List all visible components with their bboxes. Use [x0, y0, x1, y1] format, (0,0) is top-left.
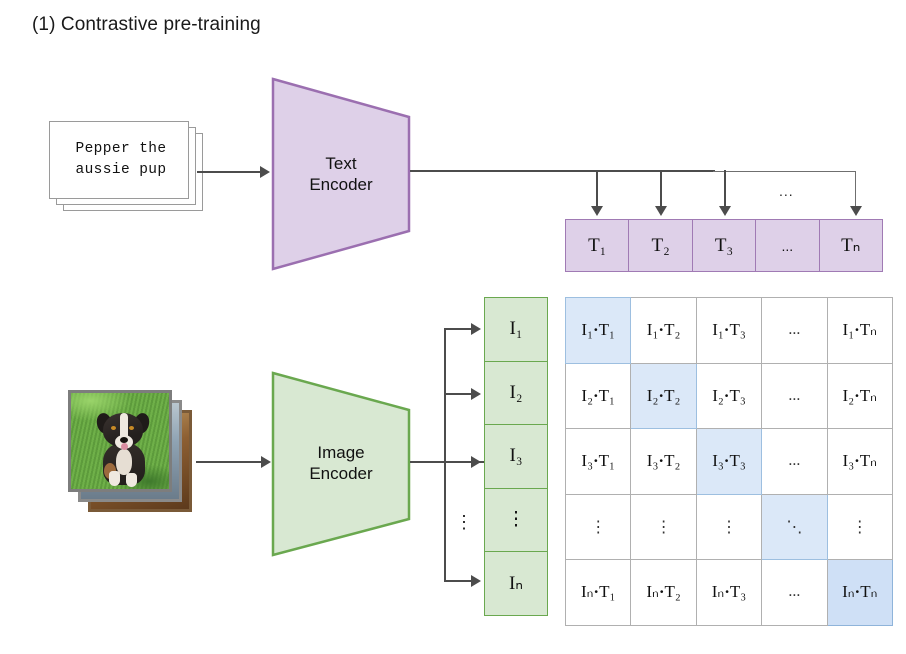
matrix-cell-r2-c2[interactable]: I₂·T₂: [631, 363, 696, 429]
text-embedding-row: T₁ T₂ T₃ ... Tₙ: [565, 219, 883, 272]
text-bus-line-main: [410, 170, 715, 172]
image-embedding-label-n: Iₙ: [509, 572, 523, 595]
text-bus-line-tail: [713, 171, 856, 172]
matrix-cell-r5-c4: ...: [762, 560, 827, 626]
text-embedding-label-1: T₁: [588, 235, 606, 257]
text-embedding-cell-1[interactable]: T₁: [565, 219, 629, 272]
text-branch-3-arrowhead: [719, 206, 731, 216]
image-bus-line-vertical: [444, 329, 446, 581]
image-embedding-cell-3[interactable]: I₃: [484, 424, 548, 489]
matrix-cell-r1-c4: ...: [762, 298, 827, 364]
matrix-cell-r4-c4: ⋱: [762, 494, 827, 560]
image-embedding-label-2: I₂: [510, 382, 523, 404]
caption-card-text: Pepper the aussie pup: [57, 139, 185, 181]
dog-paw-right: [126, 473, 137, 487]
matrix-cell-r1-c1[interactable]: I₁·T₁: [566, 298, 631, 364]
matrix-cell-r3-c4: ...: [762, 429, 827, 495]
page-title: (1) Contrastive pre-training: [32, 14, 261, 36]
image-encoder-block[interactable]: Image Encoder: [270, 370, 412, 558]
matrix-cell-r3-c1[interactable]: I₃·T₁: [566, 429, 631, 495]
matrix-cell-r4-c2: ⋮: [631, 494, 696, 560]
text-embedding-cell-n[interactable]: Tₙ: [819, 219, 883, 272]
image-embedding-column: I₁ I₂ I₃ ⋮ Iₙ: [484, 297, 548, 616]
matrix-row: I₁·T₁I₁·T₂I₁·T₃...I₁·Tₙ: [566, 298, 893, 364]
image-embedding-label-3: I₃: [510, 445, 523, 467]
dog-eye-right: [129, 426, 134, 430]
image-embedding-cell-1[interactable]: I₁: [484, 297, 548, 362]
text-encoder-label-line1: Text: [270, 153, 412, 174]
dog-eye-left: [111, 426, 116, 430]
matrix-cell-r2-c3[interactable]: I₂·T₃: [696, 363, 761, 429]
image-embedding-cell-n[interactable]: Iₙ: [484, 551, 548, 616]
image-encoder-label-line2: Encoder: [270, 463, 412, 484]
text-branch-2-arrowhead: [655, 206, 667, 216]
matrix-cell-r5-c3[interactable]: Iₙ·T₃: [696, 560, 761, 626]
image-embedding-cell-ellipsis: ⋮: [484, 488, 548, 553]
caption-to-text-encoder-arrowhead: [260, 166, 270, 178]
text-encoder-block[interactable]: Text Encoder: [270, 76, 412, 272]
matrix-cell-r4-c3: ⋮: [696, 494, 761, 560]
matrix-cell-r3-c5[interactable]: I₃·Tₙ: [827, 429, 892, 495]
text-branch-n-arrowhead: [850, 206, 862, 216]
matrix-cell-r3-c3[interactable]: I₃·T₃: [696, 429, 761, 495]
matrix-row: I₃·T₁I₃·T₂I₃·T₃...I₃·Tₙ: [566, 429, 893, 495]
matrix-row: ⋮⋮⋮⋱⋮: [566, 494, 893, 560]
image-branch-1-arrowhead: [471, 323, 481, 335]
text-branch-3-line: [724, 170, 726, 208]
matrix-cell-r5-c5[interactable]: Iₙ·Tₙ: [827, 560, 892, 626]
text-branch-1-line: [596, 170, 598, 208]
matrix-cell-r1-c2[interactable]: I₁·T₂: [631, 298, 696, 364]
text-embedding-label-ellipsis: ...: [782, 238, 794, 254]
matrix-cell-r1-c5[interactable]: I₁·Tₙ: [827, 298, 892, 364]
image-embedding-label-ellipsis: ⋮: [507, 508, 526, 531]
image-stack-front-photo: [68, 390, 172, 492]
image-to-encoder-line: [196, 461, 263, 463]
dog-tongue: [121, 443, 128, 450]
caption-to-text-encoder-line: [197, 171, 262, 173]
image-embedding-label-1: I₁: [510, 318, 523, 340]
text-branch-n-line: [855, 171, 856, 208]
matrix-cell-r2-c5[interactable]: I₂·Tₙ: [827, 363, 892, 429]
matrix-cell-r4-c5: ⋮: [827, 494, 892, 560]
text-embedding-cell-3[interactable]: T₃: [692, 219, 756, 272]
text-embedding-label-n: Tₙ: [841, 234, 860, 257]
image-embedding-cell-2[interactable]: I₂: [484, 361, 548, 426]
similarity-matrix: I₁·T₁I₁·T₂I₁·T₃...I₁·TₙI₂·T₁I₂·T₂I₂·T₃..…: [565, 297, 893, 626]
text-embedding-label-3: T₃: [715, 235, 733, 257]
text-embedding-cell-ellipsis: ...: [755, 219, 819, 272]
dog-paw-left: [109, 471, 120, 486]
text-encoder-label: Text Encoder: [270, 153, 412, 195]
caption-line-1: Pepper the: [57, 139, 185, 160]
text-branch-1-arrowhead: [591, 206, 603, 216]
text-bus-ellipsis: ...: [779, 183, 794, 199]
caption-line-2: aussie pup: [57, 160, 185, 181]
matrix-row: Iₙ·T₁Iₙ·T₂Iₙ·T₃...Iₙ·Tₙ: [566, 560, 893, 626]
text-embedding-label-2: T₂: [651, 235, 669, 257]
matrix-cell-r4-c1: ⋮: [566, 494, 631, 560]
text-branch-2-line: [660, 170, 662, 208]
image-branch-3-arrowhead: [471, 456, 481, 468]
image-bus-ellipsis: ⋮: [455, 513, 473, 531]
matrix-cell-r5-c1[interactable]: Iₙ·T₁: [566, 560, 631, 626]
image-encoder-label-line1: Image: [270, 442, 412, 463]
image-branch-2-arrowhead: [471, 388, 481, 400]
image-encoder-label: Image Encoder: [270, 442, 412, 484]
text-encoder-label-line2: Encoder: [270, 174, 412, 195]
matrix-row: I₂·T₁I₂·T₂I₂·T₃...I₂·Tₙ: [566, 363, 893, 429]
matrix-cell-r1-c3[interactable]: I₁·T₃: [696, 298, 761, 364]
image-branch-n-arrowhead: [471, 575, 481, 587]
matrix-cell-r5-c2[interactable]: Iₙ·T₂: [631, 560, 696, 626]
matrix-cell-r2-c1[interactable]: I₂·T₁: [566, 363, 631, 429]
text-embedding-cell-2[interactable]: T₂: [628, 219, 692, 272]
matrix-cell-r3-c2[interactable]: I₃·T₂: [631, 429, 696, 495]
matrix-cell-r2-c4: ...: [762, 363, 827, 429]
